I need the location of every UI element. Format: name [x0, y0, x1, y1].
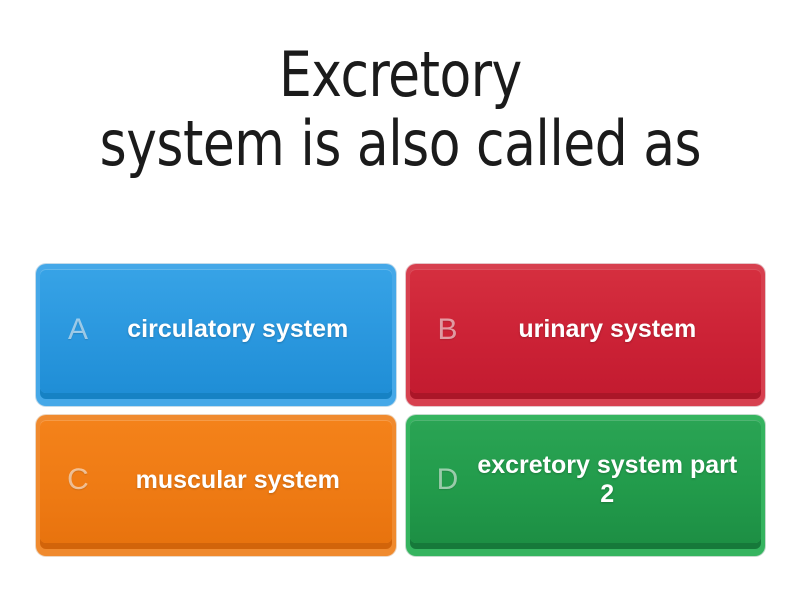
- answer-a-letter: A: [52, 315, 104, 345]
- answer-b-content: B urinary system: [406, 315, 766, 355]
- answer-b-letter: B: [422, 315, 474, 345]
- question-text: Excretory system is also called as: [99, 40, 700, 179]
- answer-c-label: muscular system: [104, 466, 382, 496]
- answer-c-letter: C: [52, 465, 104, 495]
- divider: ________________________________________…: [0, 218, 800, 264]
- answers-grid: A circulatory system B urinary system C …: [0, 264, 800, 600]
- answer-option-a[interactable]: A circulatory system: [36, 264, 396, 406]
- answer-option-b[interactable]: B urinary system: [406, 264, 766, 406]
- question-area: Excretory system is also called as: [0, 0, 800, 218]
- answer-option-d[interactable]: D excretory system part 2: [406, 415, 766, 557]
- answer-b-label: urinary system: [474, 315, 752, 345]
- answer-c-content: C muscular system: [36, 465, 396, 505]
- quiz-screen: Excretory system is also called as _____…: [0, 0, 800, 600]
- answer-d-content: D excretory system part 2: [406, 451, 766, 520]
- answer-a-content: A circulatory system: [36, 315, 396, 355]
- answer-d-label: excretory system part 2: [474, 451, 752, 510]
- question-line-2: system is also called as: [99, 107, 700, 180]
- question-line-1: Excretory: [279, 38, 522, 111]
- answer-a-label: circulatory system: [104, 315, 382, 345]
- answer-option-c[interactable]: C muscular system: [36, 415, 396, 557]
- divider-line: ________________________________________…: [27, 237, 772, 245]
- answer-d-letter: D: [422, 465, 474, 495]
